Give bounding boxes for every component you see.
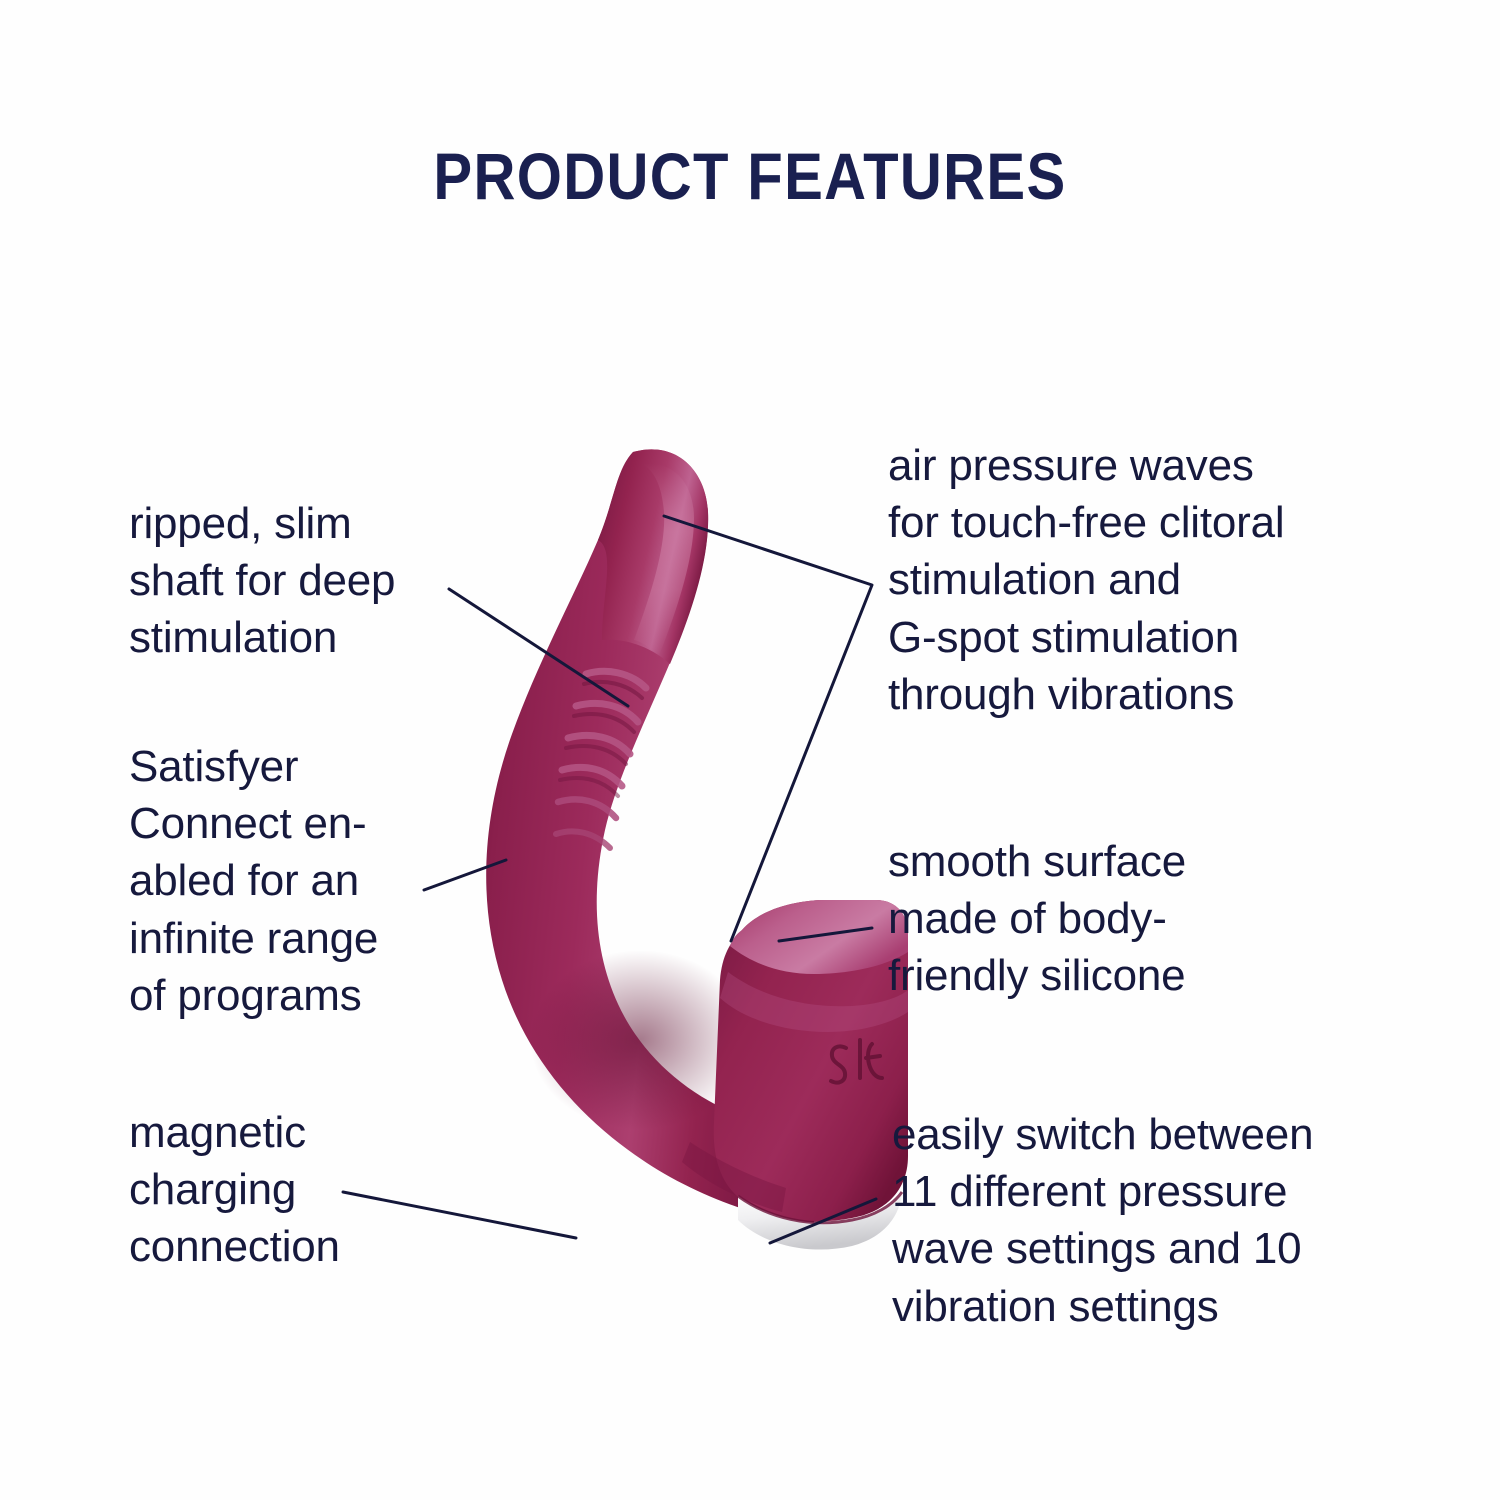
feature-label-ripped-shaft: ripped, slim shaft for deep stimulation — [129, 495, 489, 667]
feature-label-smooth-surface: smooth surface made of body- friendly si… — [888, 833, 1288, 1005]
page-title: PRODUCT FEATURES — [90, 138, 1410, 214]
product-features-page: PRODUCT FEATURES — [0, 0, 1500, 1500]
feature-label-magnetic-charging: magnetic charging connection — [129, 1104, 469, 1276]
feature-label-satisfyer-connect: Satisfyer Connect en- abled for an infin… — [129, 738, 469, 1024]
feature-label-air-pressure: air pressure waves for touch-free clitor… — [888, 437, 1388, 723]
feature-label-pressure-settings: easily switch between 11 different press… — [892, 1106, 1392, 1335]
